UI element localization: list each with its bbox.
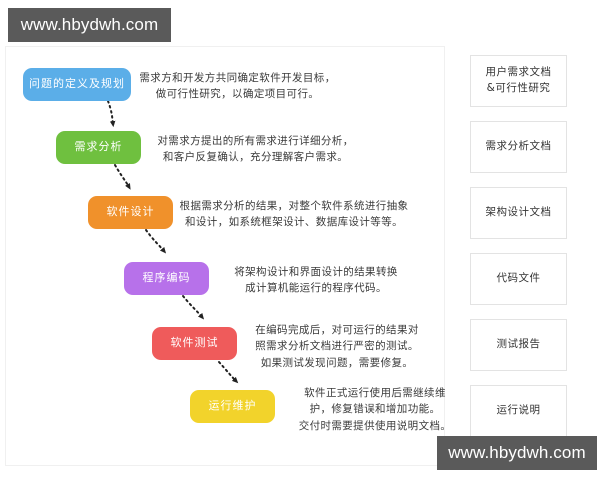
flow-node-2[interactable]: 需求分析 [56,131,141,164]
flow-node-1[interactable]: 问题的定义及规划 [23,68,131,101]
flow-node-3-label: 软件设计 [107,206,155,218]
flow-desc-3: 根据需求分析的结果，对整个软件系统进行抽象 和设计，如系统框架设计、数据库设计等… [178,198,410,231]
flow-node-4[interactable]: 程序编码 [124,262,209,295]
document-box-3[interactable]: 架构设计文档 [470,187,567,239]
flow-node-6[interactable]: 运行维护 [190,390,275,423]
document-box-2[interactable]: 需求分析文档 [470,121,567,173]
flow-desc-4: 将架构设计和界面设计的结果转换 成计算机能运行的程序代码。 [216,264,416,297]
document-box-6[interactable]: 运行说明 [470,385,567,437]
screenshot-root: www.hbydwh.com 问题的定义及规划 需求方和开发方共同确定软件开发目… [0,0,600,480]
flow-node-5[interactable]: 软件测试 [152,327,237,360]
flow-node-1-label: 问题的定义及规划 [29,78,125,90]
flow-desc-2: 对需求方提出的所有需求进行详细分析， 和客户反复确认，充分理解客户需求。 [148,133,363,166]
document-box-4[interactable]: 代码文件 [470,253,567,305]
document-box-1[interactable]: 用户需求文档 &可行性研究 [470,55,567,107]
flow-node-5-label: 软件测试 [171,337,219,349]
flow-node-2-label: 需求分析 [75,141,123,153]
flow-node-4-label: 程序编码 [143,272,191,284]
document-box-5[interactable]: 测试报告 [470,319,567,371]
flow-desc-6: 软件正式运行使用后需继续维 护，修复错误和增加功能。 交付时需要提供使用说明文档… [282,385,468,434]
flow-desc-5: 在编码完成后，对可运行的结果对 照需求分析文档进行严密的测试。 如果测试发现问题… [244,322,430,371]
watermark-top: www.hbydwh.com [8,8,171,42]
flow-desc-1: 需求方和开发方共同确定软件开发目标， 做可行性研究，以确定项目可行。 [130,70,345,103]
watermark-bottom: www.hbydwh.com [437,436,597,470]
flow-node-6-label: 运行维护 [209,400,257,412]
flow-node-3[interactable]: 软件设计 [88,196,173,229]
